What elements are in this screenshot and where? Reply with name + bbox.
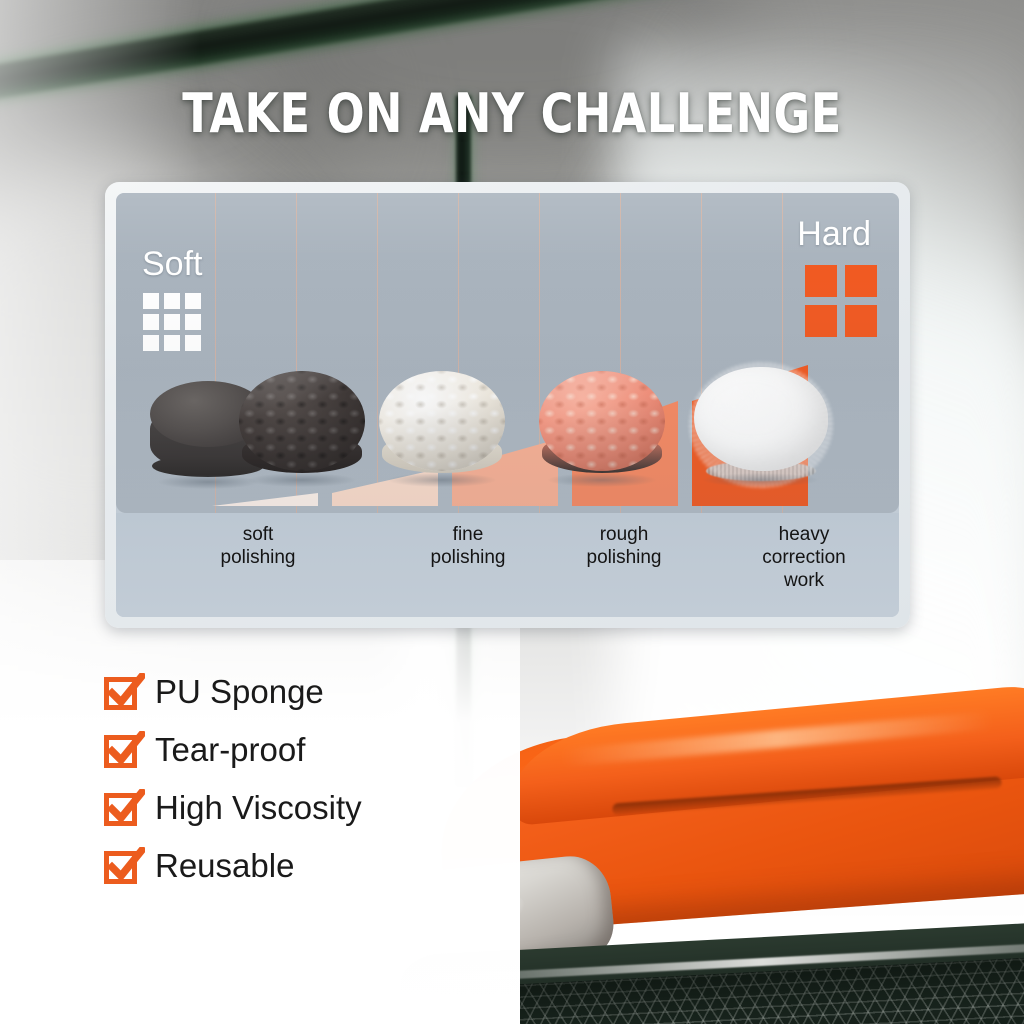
chart-area: Soft Hard (116, 193, 899, 513)
check-mark-icon (105, 847, 145, 887)
grid-2x2-icon (805, 265, 877, 337)
checkbox-checked-icon (104, 731, 141, 768)
category-label: soft polishing (178, 523, 338, 569)
feature-label: Tear-proof (155, 733, 305, 766)
category-label: heavy correction work (724, 523, 884, 592)
checkbox-checked-icon (104, 673, 141, 710)
check-mark-icon (105, 673, 145, 713)
waffle-salmon-pad (539, 371, 665, 483)
category-label-band: soft polishing fine polishing rough poli… (116, 513, 899, 617)
category-label: fine polishing (388, 523, 548, 569)
waffle-cream-pad (379, 371, 505, 483)
hardness-chart-panel: Soft Hard (105, 182, 910, 628)
feature-label: High Viscosity (155, 791, 362, 824)
feature-item: High Viscosity (104, 778, 524, 836)
hard-axis-label: Hard (797, 215, 871, 254)
checkbox-checked-icon (104, 847, 141, 884)
feature-list: PU Sponge Tear-proof High Viscosity Reus… (104, 662, 524, 894)
feature-label: PU Sponge (155, 675, 324, 708)
soft-axis-label: Soft (142, 245, 202, 284)
pad-row (116, 365, 899, 513)
grid-3x3-icon (143, 293, 201, 351)
feature-item: PU Sponge (104, 662, 524, 720)
feature-label: Reusable (155, 849, 294, 882)
check-mark-icon (105, 789, 145, 829)
feature-item: Tear-proof (104, 720, 524, 778)
checkbox-checked-icon (104, 789, 141, 826)
check-mark-icon (105, 731, 145, 771)
panel-inner: Soft Hard (116, 193, 899, 617)
feature-item: Reusable (104, 836, 524, 894)
waffle-dark-pad (239, 371, 365, 483)
wool-white-pad (694, 367, 828, 483)
category-label: rough polishing (544, 523, 704, 569)
page-title: TAKE ON ANY CHALLENGE (41, 82, 983, 145)
